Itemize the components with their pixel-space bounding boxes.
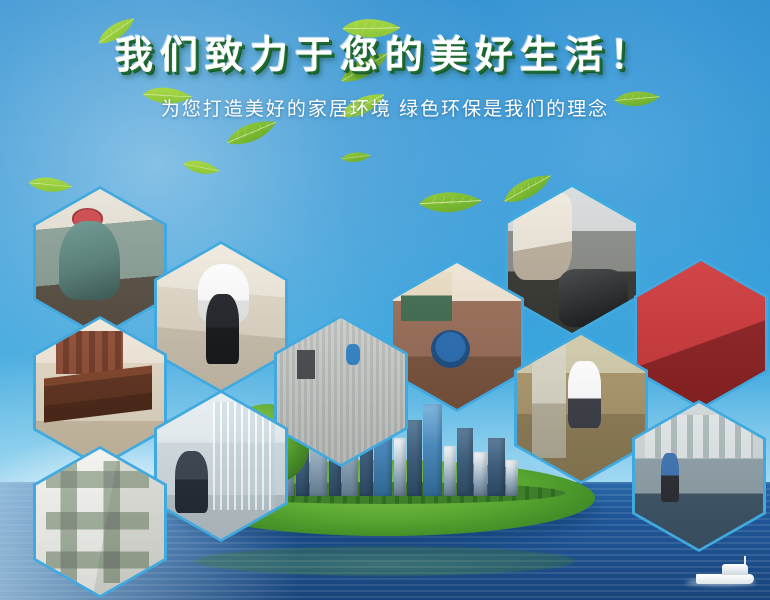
headline-block: 我们致力于您的美好生活！ 为您打造美好的家居环境 绿色环保是我们的理念 xyxy=(0,36,770,121)
hex-image-clip xyxy=(517,335,645,481)
hex-stair-mopping[interactable] xyxy=(154,241,288,393)
hex-image-clip xyxy=(637,261,765,407)
hex-photo-tint xyxy=(635,403,763,549)
hex-demolition-worker[interactable] xyxy=(33,186,167,338)
hex-handrail-polish[interactable] xyxy=(33,316,167,468)
hex-image-clip xyxy=(157,244,285,390)
hex-carpet-machine[interactable] xyxy=(390,260,524,412)
hex-floor-mopping[interactable] xyxy=(514,332,648,484)
hex-red-cloth[interactable] xyxy=(634,258,768,410)
hex-photo-tint xyxy=(637,261,765,407)
hex-photo-tint xyxy=(157,393,285,539)
page-subtitle: 为您打造美好的家居环境 绿色环保是我们的理念 xyxy=(0,94,770,121)
promo-banner: 我们致力于您的美好生活！ 为您打造美好的家居环境 绿色环保是我们的理念 xyxy=(0,0,770,600)
hex-photo-tint xyxy=(393,263,521,409)
hex-image-clip xyxy=(393,263,521,409)
hex-chandelier-clean[interactable] xyxy=(154,390,288,542)
hex-photo-tint xyxy=(277,318,405,464)
hex-photo-tint xyxy=(36,449,164,595)
hex-image-clip xyxy=(635,403,763,549)
hex-photo-tint xyxy=(157,244,285,390)
hex-image-clip xyxy=(36,449,164,595)
page-title: 我们致力于您的美好生活！ xyxy=(115,36,655,78)
hex-image-clip xyxy=(36,189,164,335)
hex-image-clip xyxy=(36,319,164,465)
hex-photo-tint xyxy=(36,189,164,335)
hex-photo-tint xyxy=(517,335,645,481)
hex-roof-glass-clean[interactable] xyxy=(632,400,766,552)
hex-building-wash[interactable] xyxy=(33,446,167,598)
hex-image-clip xyxy=(277,318,405,464)
hex-kitchen-degrease[interactable] xyxy=(505,184,639,336)
hex-photo-tint xyxy=(36,319,164,465)
hex-rope-access[interactable] xyxy=(274,315,408,467)
hex-image-clip xyxy=(157,393,285,539)
